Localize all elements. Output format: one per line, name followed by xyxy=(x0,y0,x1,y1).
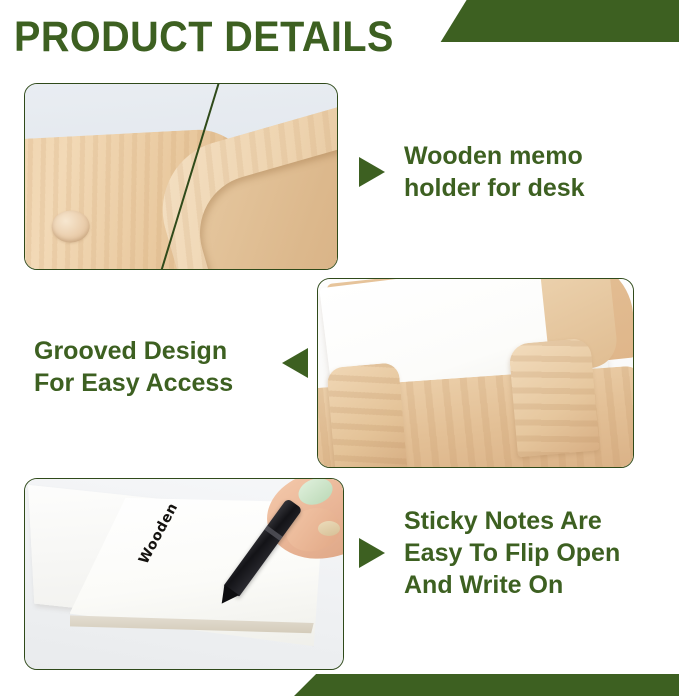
top-banner-decoration xyxy=(432,0,679,42)
wood-groove-detail xyxy=(185,135,338,270)
feature-image-wooden-boards xyxy=(24,83,338,270)
feature-caption-two: Grooved Design For Easy Access xyxy=(34,335,233,399)
arrow-right-icon xyxy=(359,538,385,568)
bottom-banner-decoration xyxy=(278,674,679,696)
marker-band-detail xyxy=(265,525,283,540)
holder-left-post xyxy=(326,363,408,468)
page-title: PRODUCT DETAILS xyxy=(14,14,394,60)
feature-image-writing-on-notes: Wooden xyxy=(24,478,344,670)
arrow-left-icon xyxy=(282,348,308,378)
holder-right-post xyxy=(509,338,600,458)
feature-caption-three: Sticky Notes Are Easy To Flip Open And W… xyxy=(404,505,620,601)
arrow-right-icon xyxy=(359,157,385,187)
fingernail-thumb xyxy=(318,521,340,536)
feature-image-grooved-holder xyxy=(317,278,634,468)
wood-knob-detail xyxy=(52,209,92,243)
feature-caption-one: Wooden memo holder for desk xyxy=(404,140,585,204)
